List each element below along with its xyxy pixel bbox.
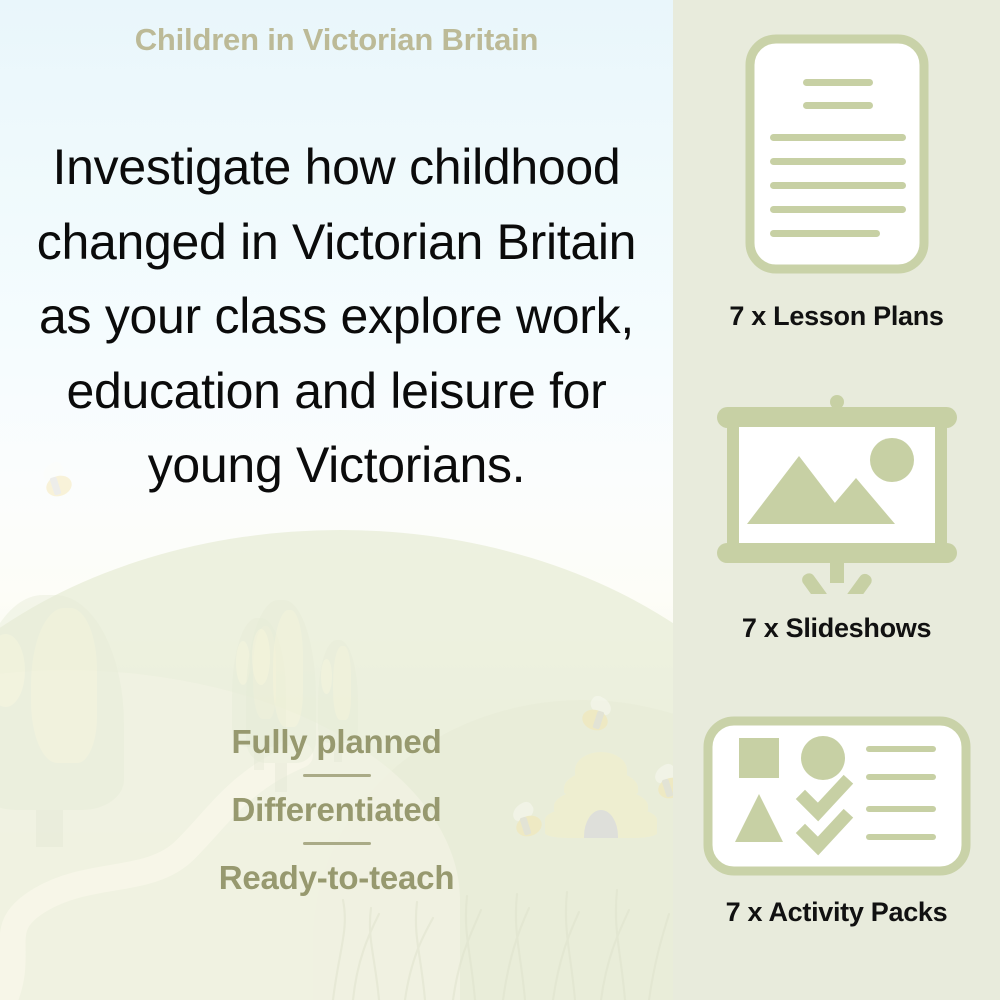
deliverable-lesson-plans: 7 x Lesson Plans <box>673 34 1000 332</box>
page-title: Children in Victorian Britain <box>0 22 673 58</box>
headline-text: Investigate how childhood changed in Vic… <box>34 130 639 503</box>
left-panel: Children in Victorian Britain Investigat… <box>0 0 673 1000</box>
activity-pack-icon <box>703 716 971 881</box>
deliverable-label-activity-packs: 7 x Activity Packs <box>726 897 948 928</box>
promo-graphic: Children in Victorian Britain Investigat… <box>0 0 1000 1000</box>
feature-list: Fully planned Differentiated Ready-to-te… <box>0 718 673 901</box>
deliverable-slideshows: 7 x Slideshows <box>673 394 1000 644</box>
deliverable-activity-packs: 7 x Activity Packs <box>673 716 1000 928</box>
feature-item-differentiated: Differentiated <box>0 786 673 833</box>
document-icon <box>745 34 929 279</box>
feature-divider <box>303 842 371 845</box>
feature-divider <box>303 774 371 777</box>
deliverables-panel: 7 x Lesson Plans <box>673 0 1000 1000</box>
presentation-screen-icon <box>701 394 973 599</box>
feature-item-ready-to-teach: Ready-to-teach <box>0 854 673 901</box>
feature-item-fully-planned: Fully planned <box>0 718 673 765</box>
deliverable-label-lesson-plans: 7 x Lesson Plans <box>729 301 943 332</box>
deliverable-label-slideshows: 7 x Slideshows <box>742 613 931 644</box>
